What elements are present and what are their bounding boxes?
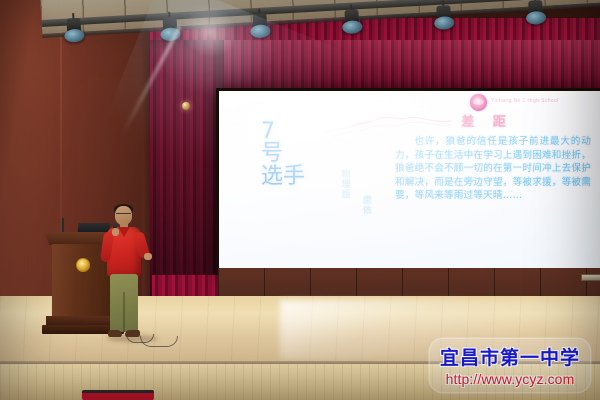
projection-screen: Yichang No.1 High School 差 距 7 号 选手 物理组 …	[219, 91, 600, 268]
school-crest-icon	[76, 258, 90, 272]
presenter	[96, 206, 152, 346]
auditorium-stage-photo: Yichang No.1 High School 差 距 7 号 选手 物理组 …	[0, 0, 600, 400]
presenter-trousers	[110, 274, 138, 332]
spotlight-icon	[249, 13, 270, 38]
watermark-url: http://www.ycyz.com	[440, 371, 580, 387]
presenter-left-shoe	[108, 330, 122, 337]
slide-paragraph: 也许，狼爸的信任是孩子前进最大的动力，孩子在生活中在学习上遇到困难和挫折，狼爸绝…	[395, 135, 591, 203]
stage-curtain-left	[150, 40, 224, 298]
microphone-stand-icon	[62, 218, 64, 234]
wall-vent-icon	[581, 274, 600, 281]
wall-light-icon	[182, 102, 190, 110]
presenter-right-hand	[144, 253, 152, 260]
watermark-school-name: 宜昌市第一中学	[440, 343, 580, 370]
glasses-icon	[116, 213, 131, 217]
spotlight-icon	[341, 9, 362, 34]
foreground-red-object	[82, 390, 154, 400]
stage-curtain-top	[218, 40, 600, 90]
spotlight-icon	[433, 5, 454, 30]
spotlight-icon	[63, 18, 84, 43]
slide-title: 差 距	[427, 111, 547, 130]
slide-credit: 物理组 唐依	[339, 169, 371, 215]
credit-group: 物理组	[339, 169, 349, 215]
school-emblem-icon	[470, 94, 487, 111]
credit-name: 唐依	[360, 195, 370, 215]
headline-line-3: 选手	[261, 166, 319, 188]
spotlight-icon	[525, 0, 546, 25]
watermark: 宜昌市第一中学 http://www.ycyz.com	[430, 339, 590, 392]
slide-school-english: Yichang No.1 High School	[491, 98, 559, 104]
presenter-left-hand	[112, 228, 119, 236]
slide-headline: 7 号 选手	[261, 121, 319, 188]
headline-line-2: 号	[261, 143, 319, 165]
